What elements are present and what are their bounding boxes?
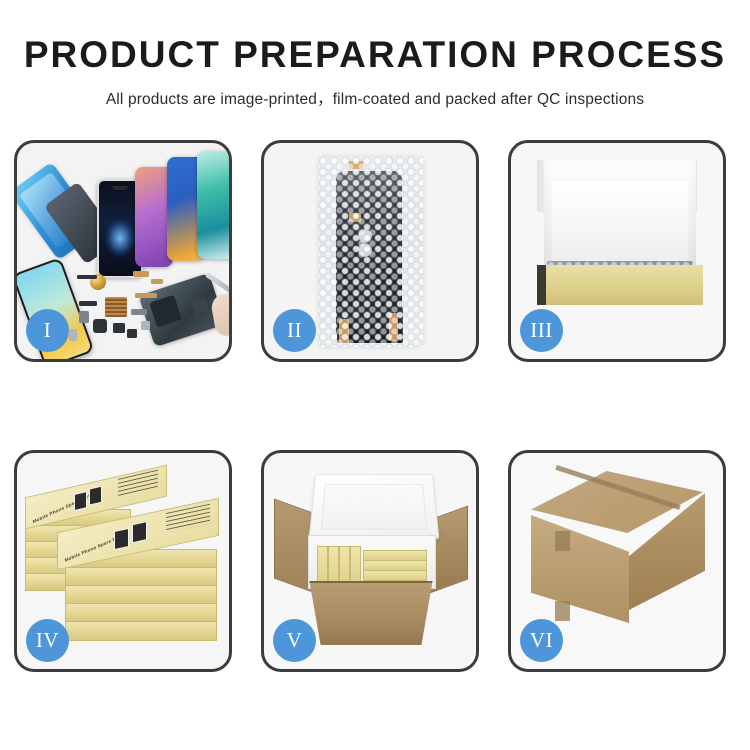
box-print-lines <box>118 470 158 497</box>
phone-teal-icon <box>197 151 232 259</box>
step-panel-5: V <box>261 450 479 672</box>
box-phone-graphic <box>114 528 129 550</box>
step-panel-1: I <box>14 140 232 362</box>
white-foam-lid <box>544 157 696 269</box>
box-phone-graphic <box>89 486 102 506</box>
small-part-icon <box>79 311 89 323</box>
inner-box <box>363 570 427 581</box>
inner-box <box>317 546 328 586</box>
small-part-icon <box>141 321 150 330</box>
stacked-box <box>65 585 217 605</box>
step-panel-6: VI <box>508 450 726 672</box>
small-part-icon <box>127 329 137 338</box>
step-badge-6: VI <box>520 619 563 662</box>
step-badge-4: IV <box>26 619 69 662</box>
step-panel-2: II <box>261 140 479 362</box>
step-panel-4: Mobile Phone Spare Parts Mobile Phone Sp… <box>14 450 232 672</box>
step-badge-5: V <box>273 619 316 662</box>
small-part-icon <box>77 275 97 279</box>
yellow-box-body <box>537 265 703 305</box>
box-left-edge <box>537 265 546 305</box>
foam-box-lid <box>309 474 440 539</box>
small-part-icon <box>135 293 157 298</box>
page-subtitle: All products are image-printed，film-coat… <box>0 87 750 109</box>
foam-box-body <box>308 535 436 589</box>
step-badge-1: I <box>26 309 69 352</box>
page-title: PRODUCT PREPARATION PROCESS <box>0 36 750 73</box>
process-step-grid: I II <box>14 140 736 672</box>
stacked-box <box>65 603 217 623</box>
inner-box <box>339 546 350 586</box>
small-part-icon <box>113 323 125 333</box>
bubble-texture <box>319 157 423 347</box>
inner-box <box>350 546 361 586</box>
carton-tape-icon <box>555 531 570 551</box>
chip-grid-part-icon <box>105 297 127 317</box>
carton-front-face <box>531 515 629 623</box>
outer-carton-body <box>301 581 441 645</box>
small-part-icon <box>131 309 147 315</box>
small-part-icon <box>69 329 77 341</box>
small-part-icon <box>133 271 149 277</box>
box-phone-graphic <box>74 491 87 511</box>
bubble-wrap-bag <box>319 157 423 347</box>
small-part-icon <box>79 301 97 306</box>
stacked-box <box>65 621 217 641</box>
box-phone-graphic <box>132 521 147 543</box>
small-part-icon <box>151 279 163 284</box>
carton-tape-icon <box>555 601 570 621</box>
stacked-box <box>65 567 217 587</box>
step-badge-2: II <box>273 309 316 352</box>
inner-box <box>328 546 339 586</box>
small-part-icon <box>93 319 107 333</box>
step-panel-3: III <box>508 140 726 362</box>
page-header: PRODUCT PREPARATION PROCESS All products… <box>0 0 750 109</box>
box-print-lines <box>166 504 210 533</box>
step-badge-3: III <box>520 309 563 352</box>
